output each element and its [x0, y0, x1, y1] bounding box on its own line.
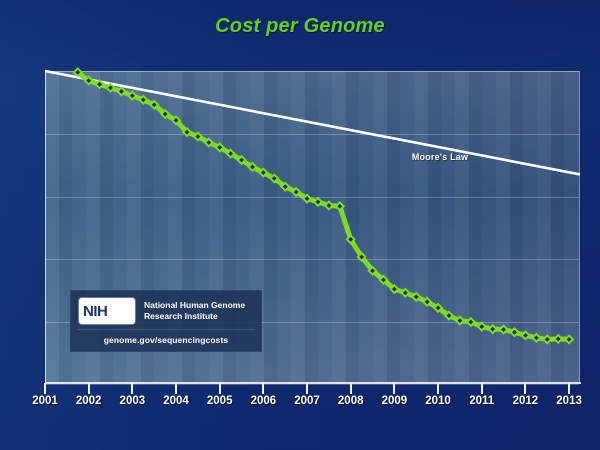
nih-logo-text: NIH: [79, 304, 107, 319]
divider: [77, 329, 255, 330]
nih-org-name: National Human Genome Research Institute: [144, 300, 245, 323]
data-layer: [0, 0, 600, 450]
nih-url: genome.gov/sequencingcosts: [71, 335, 261, 351]
chart-root: Cost per Genome $100M$10M$1M$100K$10K$1K…: [0, 0, 600, 450]
nih-logo-mark: NIH: [79, 298, 135, 324]
moore-law-label: Moore's Law: [412, 152, 468, 162]
nih-org-line1: National Human Genome: [144, 300, 245, 312]
nih-org-line2: Research Institute: [144, 311, 245, 323]
moore-law-line: [45, 71, 580, 174]
chevron-right-icon: [124, 298, 142, 324]
nih-logo-top: NIH National Human Genome Research Insti…: [71, 291, 261, 329]
nih-logo-block: NIH National Human Genome Research Insti…: [70, 290, 262, 352]
